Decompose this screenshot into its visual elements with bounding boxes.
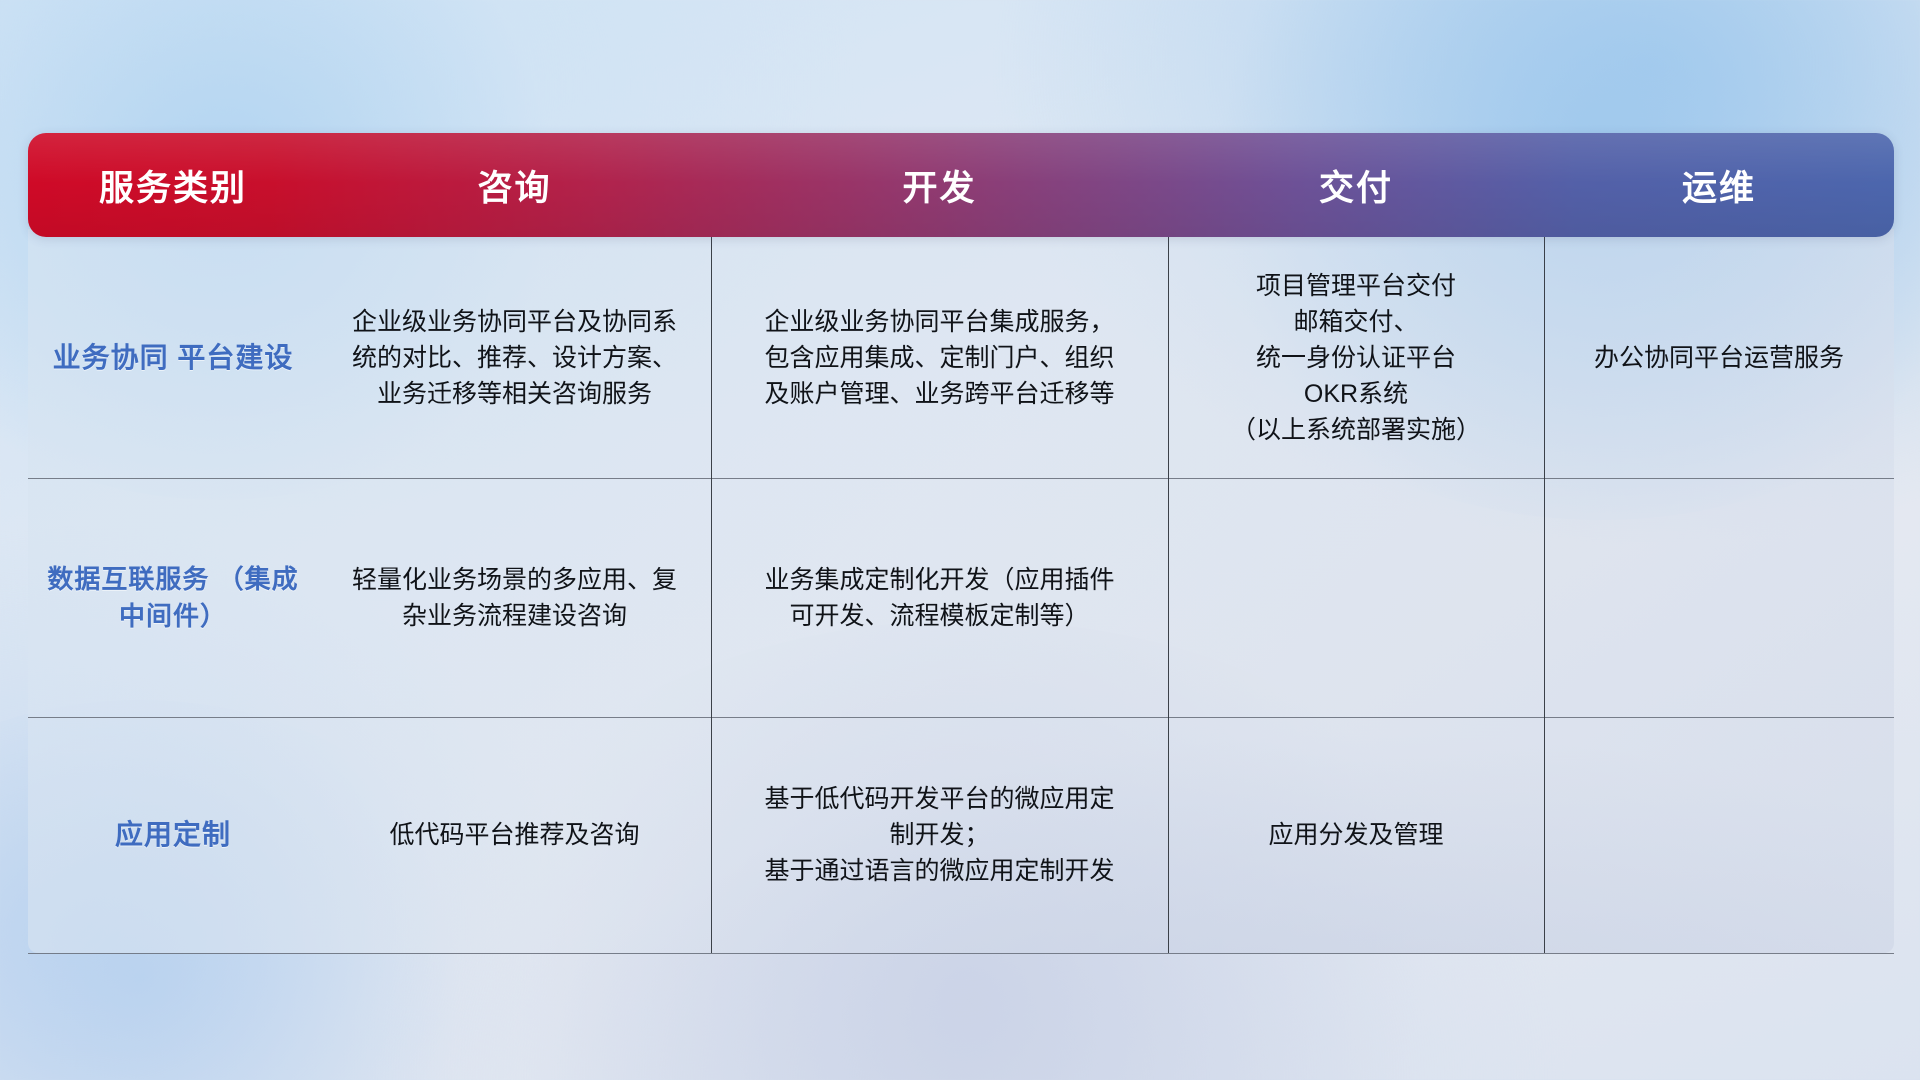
cell-consulting: 低代码平台推荐及咨询 [318, 717, 711, 953]
service-matrix-table: 服务类别 咨询 开发 交付 运维 业务协同 平台建设 企业级业务协同平台及协同系… [28, 133, 1894, 953]
table-row: 数据互联服务 （集成中间件） 轻量化业务场景的多应用、复 杂业务流程建设咨询 业… [28, 478, 1894, 717]
cell-text: 应用分发及管理 [1268, 817, 1443, 853]
table-header-row: 服务类别 咨询 开发 交付 运维 [28, 133, 1894, 237]
cell-operations [1544, 717, 1894, 953]
cell-category: 数据互联服务 （集成中间件） [28, 478, 318, 717]
cell-text: 项目管理平台交付 邮箱交付、 统一身份认证平台 OKR系统 （以上系统部署实施） [1231, 268, 1481, 448]
cell-consulting: 轻量化业务场景的多应用、复 杂业务流程建设咨询 [318, 478, 711, 717]
category-label: 数据互联服务 （集成中间件） [42, 561, 304, 635]
column-header-consulting: 咨询 [318, 160, 711, 211]
cell-text: 轻量化业务场景的多应用、复 杂业务流程建设咨询 [352, 562, 677, 634]
cell-development: 基于低代码开发平台的微应用定 制开发； 基于通过语言的微应用定制开发 [711, 717, 1168, 953]
column-header-delivery: 交付 [1168, 160, 1544, 211]
cell-delivery: 项目管理平台交付 邮箱交付、 统一身份认证平台 OKR系统 （以上系统部署实施） [1168, 237, 1544, 478]
cell-consulting: 企业级业务协同平台及协同系 统的对比、推荐、设计方案、 业务迁移等相关咨询服务 [318, 237, 711, 478]
cell-operations: 办公协同平台运营服务 [1544, 237, 1894, 478]
table-body: 业务协同 平台建设 企业级业务协同平台及协同系 统的对比、推荐、设计方案、 业务… [28, 229, 1894, 953]
column-header-development: 开发 [711, 160, 1168, 211]
column-header-operations: 运维 [1544, 160, 1894, 211]
cell-text: 业务集成定制化开发（应用插件 可开发、流程模板定制等） [764, 562, 1114, 634]
cell-text: 企业级业务协同平台集成服务， 包含应用集成、定制门户、组织 及账户管理、业务跨平… [764, 304, 1114, 412]
cell-text: 基于低代码开发平台的微应用定 制开发； 基于通过语言的微应用定制开发 [764, 781, 1114, 889]
cell-category: 业务协同 平台建设 [28, 237, 318, 478]
cell-delivery: 应用分发及管理 [1168, 717, 1544, 953]
cell-development: 企业级业务协同平台集成服务， 包含应用集成、定制门户、组织 及账户管理、业务跨平… [711, 237, 1168, 478]
cell-development: 业务集成定制化开发（应用插件 可开发、流程模板定制等） [711, 478, 1168, 717]
category-label: 业务协同 平台建设 [53, 338, 294, 378]
column-header-category: 服务类别 [28, 160, 318, 211]
table-row: 业务协同 平台建设 企业级业务协同平台及协同系 统的对比、推荐、设计方案、 业务… [28, 237, 1894, 478]
cell-text: 办公协同平台运营服务 [1594, 340, 1844, 376]
cell-category: 应用定制 [28, 717, 318, 953]
cell-operations [1544, 478, 1894, 717]
category-label: 应用定制 [115, 815, 231, 855]
cell-delivery [1168, 478, 1544, 717]
row-divider-3 [28, 953, 1894, 954]
cell-text: 低代码平台推荐及咨询 [389, 817, 639, 853]
cell-text: 企业级业务协同平台及协同系 统的对比、推荐、设计方案、 业务迁移等相关咨询服务 [352, 304, 677, 412]
table-row: 应用定制 低代码平台推荐及咨询 基于低代码开发平台的微应用定 制开发； 基于通过… [28, 717, 1894, 953]
